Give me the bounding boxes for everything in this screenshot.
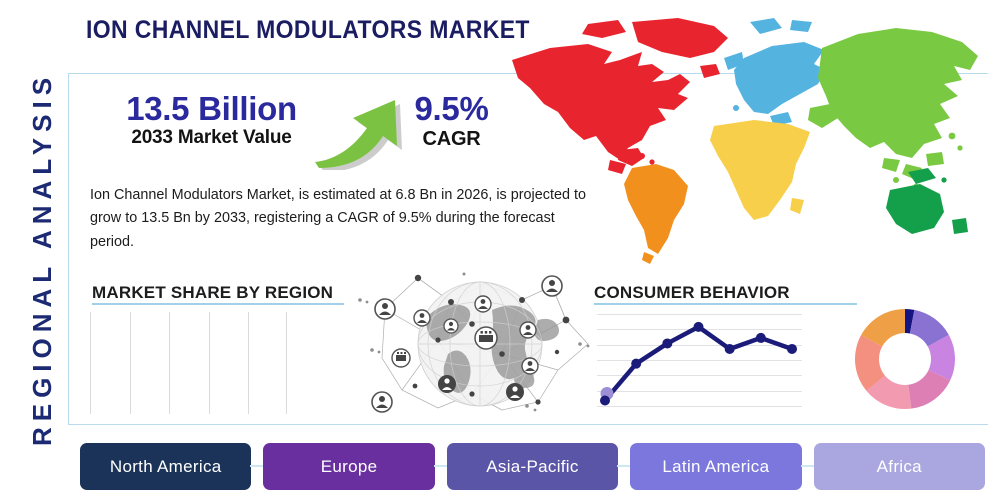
line-chart-point (631, 359, 641, 369)
chip-connector-rule (250, 465, 264, 467)
market-share-heading-rule (92, 303, 344, 305)
region-chip-europe[interactable]: Europe (263, 443, 434, 490)
region-chip-africa[interactable]: Africa (814, 443, 985, 490)
kpi-cagr-caption: CAGR (394, 128, 509, 150)
line-chart-series (597, 308, 802, 414)
line-chart-point (662, 338, 672, 348)
line-chart-point (694, 322, 704, 332)
node-badge (506, 383, 524, 401)
node-badge (438, 375, 456, 393)
kpi-cagr-number: 9.5% (394, 92, 509, 127)
segment-donut-chart (853, 307, 957, 411)
node-badge (522, 358, 538, 374)
node-badge (444, 319, 458, 333)
node-badge (372, 392, 392, 412)
node-badge (542, 276, 562, 296)
node-badge (520, 322, 536, 338)
kpi-market-value-number: 13.5 Billion (104, 92, 319, 127)
market-share-heading: MARKET SHARE BY REGION (92, 283, 333, 303)
region-chip-north-america[interactable]: North America (80, 443, 251, 490)
region-chip-asia-pacific[interactable]: Asia-Pacific (447, 443, 618, 490)
line-chart-point (756, 333, 766, 343)
consumer-behavior-heading-rule (594, 303, 857, 305)
line-chart-point (600, 395, 610, 405)
market-summary-text: Ion Channel Modulators Market, is estima… (90, 184, 595, 254)
page-title: ION CHANNEL MODULATORS MARKET (86, 16, 530, 45)
node-badge (414, 310, 430, 326)
global-network-illustration (352, 262, 598, 424)
map-region-south-america (624, 164, 688, 264)
line-chart-point (725, 344, 735, 354)
bar-chart-gridlines (90, 312, 288, 414)
map-region-north-america (512, 18, 728, 174)
region-chip-latin-america[interactable]: Latin America (630, 443, 801, 490)
kpi-row: 13.5 Billion 2033 Market Value 9.5% CAGR (104, 92, 504, 170)
market-share-bar-chart (90, 312, 288, 414)
node-badge (475, 296, 491, 312)
line-chart-point (787, 344, 797, 354)
regional-analysis-side-label: REGIONAL ANALYSIS (18, 49, 66, 469)
node-badge (375, 299, 395, 319)
infographic-canvas: REGIONAL ANALYSIS ION CHANNEL MODULATORS… (0, 0, 1000, 500)
consumer-behavior-line-chart (597, 308, 802, 414)
chip-connector-rule (434, 465, 448, 467)
kpi-cagr: 9.5% CAGR (394, 92, 509, 150)
map-region-oceania (886, 168, 968, 234)
region-chip-row: North AmericaEuropeAsia-PacificLatin Ame… (80, 443, 985, 490)
kpi-market-value: 13.5 Billion 2033 Market Value (104, 92, 319, 149)
map-region-asia (808, 28, 978, 188)
consumer-behavior-heading: CONSUMER BEHAVIOR (594, 283, 790, 303)
chip-connector-rule (801, 465, 815, 467)
building-badge (392, 349, 410, 367)
building-badge (475, 327, 497, 349)
chip-connector-rule (617, 465, 631, 467)
kpi-market-value-caption: 2033 Market Value (104, 128, 319, 149)
map-region-africa (710, 120, 810, 220)
